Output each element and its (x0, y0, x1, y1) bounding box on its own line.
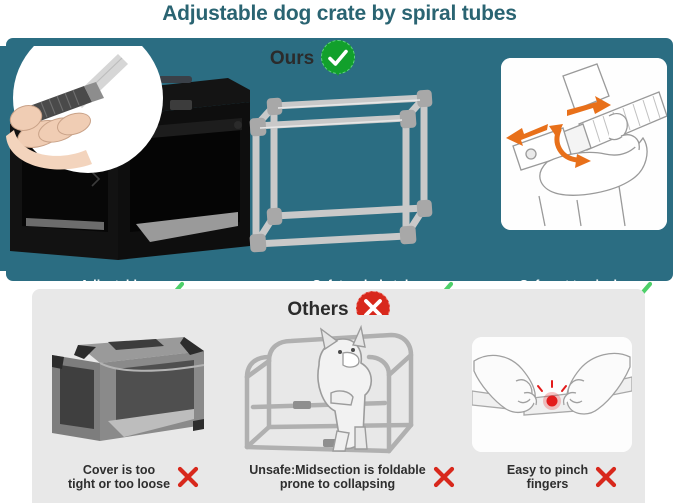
collapsing-frame-with-dog-illustration (227, 315, 452, 463)
others-caption-2: Unsafe:Midsection is foldable prone to c… (227, 461, 477, 493)
ours-panel: Ours (6, 38, 673, 281)
infographic-page: Adjustable dog crate by spiral tubes Our… (0, 0, 679, 503)
others-caption-1-text: Cover is too tight or too loose (68, 463, 170, 491)
hand-twisting-spiral-tube-illustration (501, 58, 667, 230)
gray-loose-cover-crate-photo (38, 329, 223, 459)
pinched-fingers-illustration (472, 337, 632, 452)
ours-label: Ours (270, 48, 314, 70)
others-panel: Others (32, 289, 645, 503)
cross-icon (177, 466, 199, 488)
cross-icon (595, 466, 617, 488)
rigid-tube-frame-diagram (246, 76, 461, 271)
black-dog-crate-photo (0, 46, 250, 271)
others-caption-3: Easy to pinch fingers (487, 461, 637, 493)
others-caption-2-text: Unsafe:Midsection is foldable prone to c… (249, 463, 425, 491)
others-caption-3-text: Easy to pinch fingers (507, 463, 588, 491)
check-circle-icon (321, 40, 355, 78)
page-title: Adjustable dog crate by spiral tubes (0, 2, 679, 26)
cross-icon (433, 466, 455, 488)
others-caption-1: Cover is too tight or too loose (46, 461, 221, 493)
